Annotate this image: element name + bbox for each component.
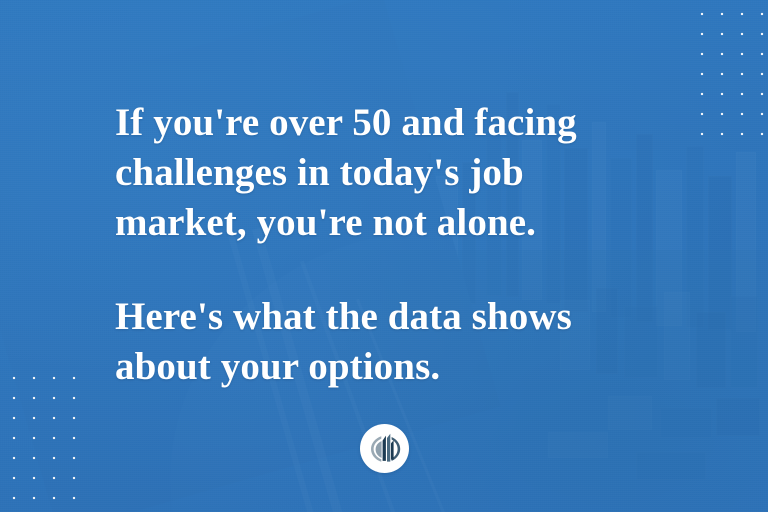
subhead-text: Here's what the data shows about your op… bbox=[115, 292, 655, 392]
building-logo-icon bbox=[367, 431, 403, 467]
text-content: If you're over 50 and facing challenges … bbox=[115, 98, 655, 392]
headline-text: If you're over 50 and facing challenges … bbox=[115, 98, 655, 248]
paragraph-spacer bbox=[115, 248, 655, 292]
social-card: If you're over 50 and facing challenges … bbox=[0, 0, 768, 512]
logo-badge bbox=[360, 424, 409, 473]
